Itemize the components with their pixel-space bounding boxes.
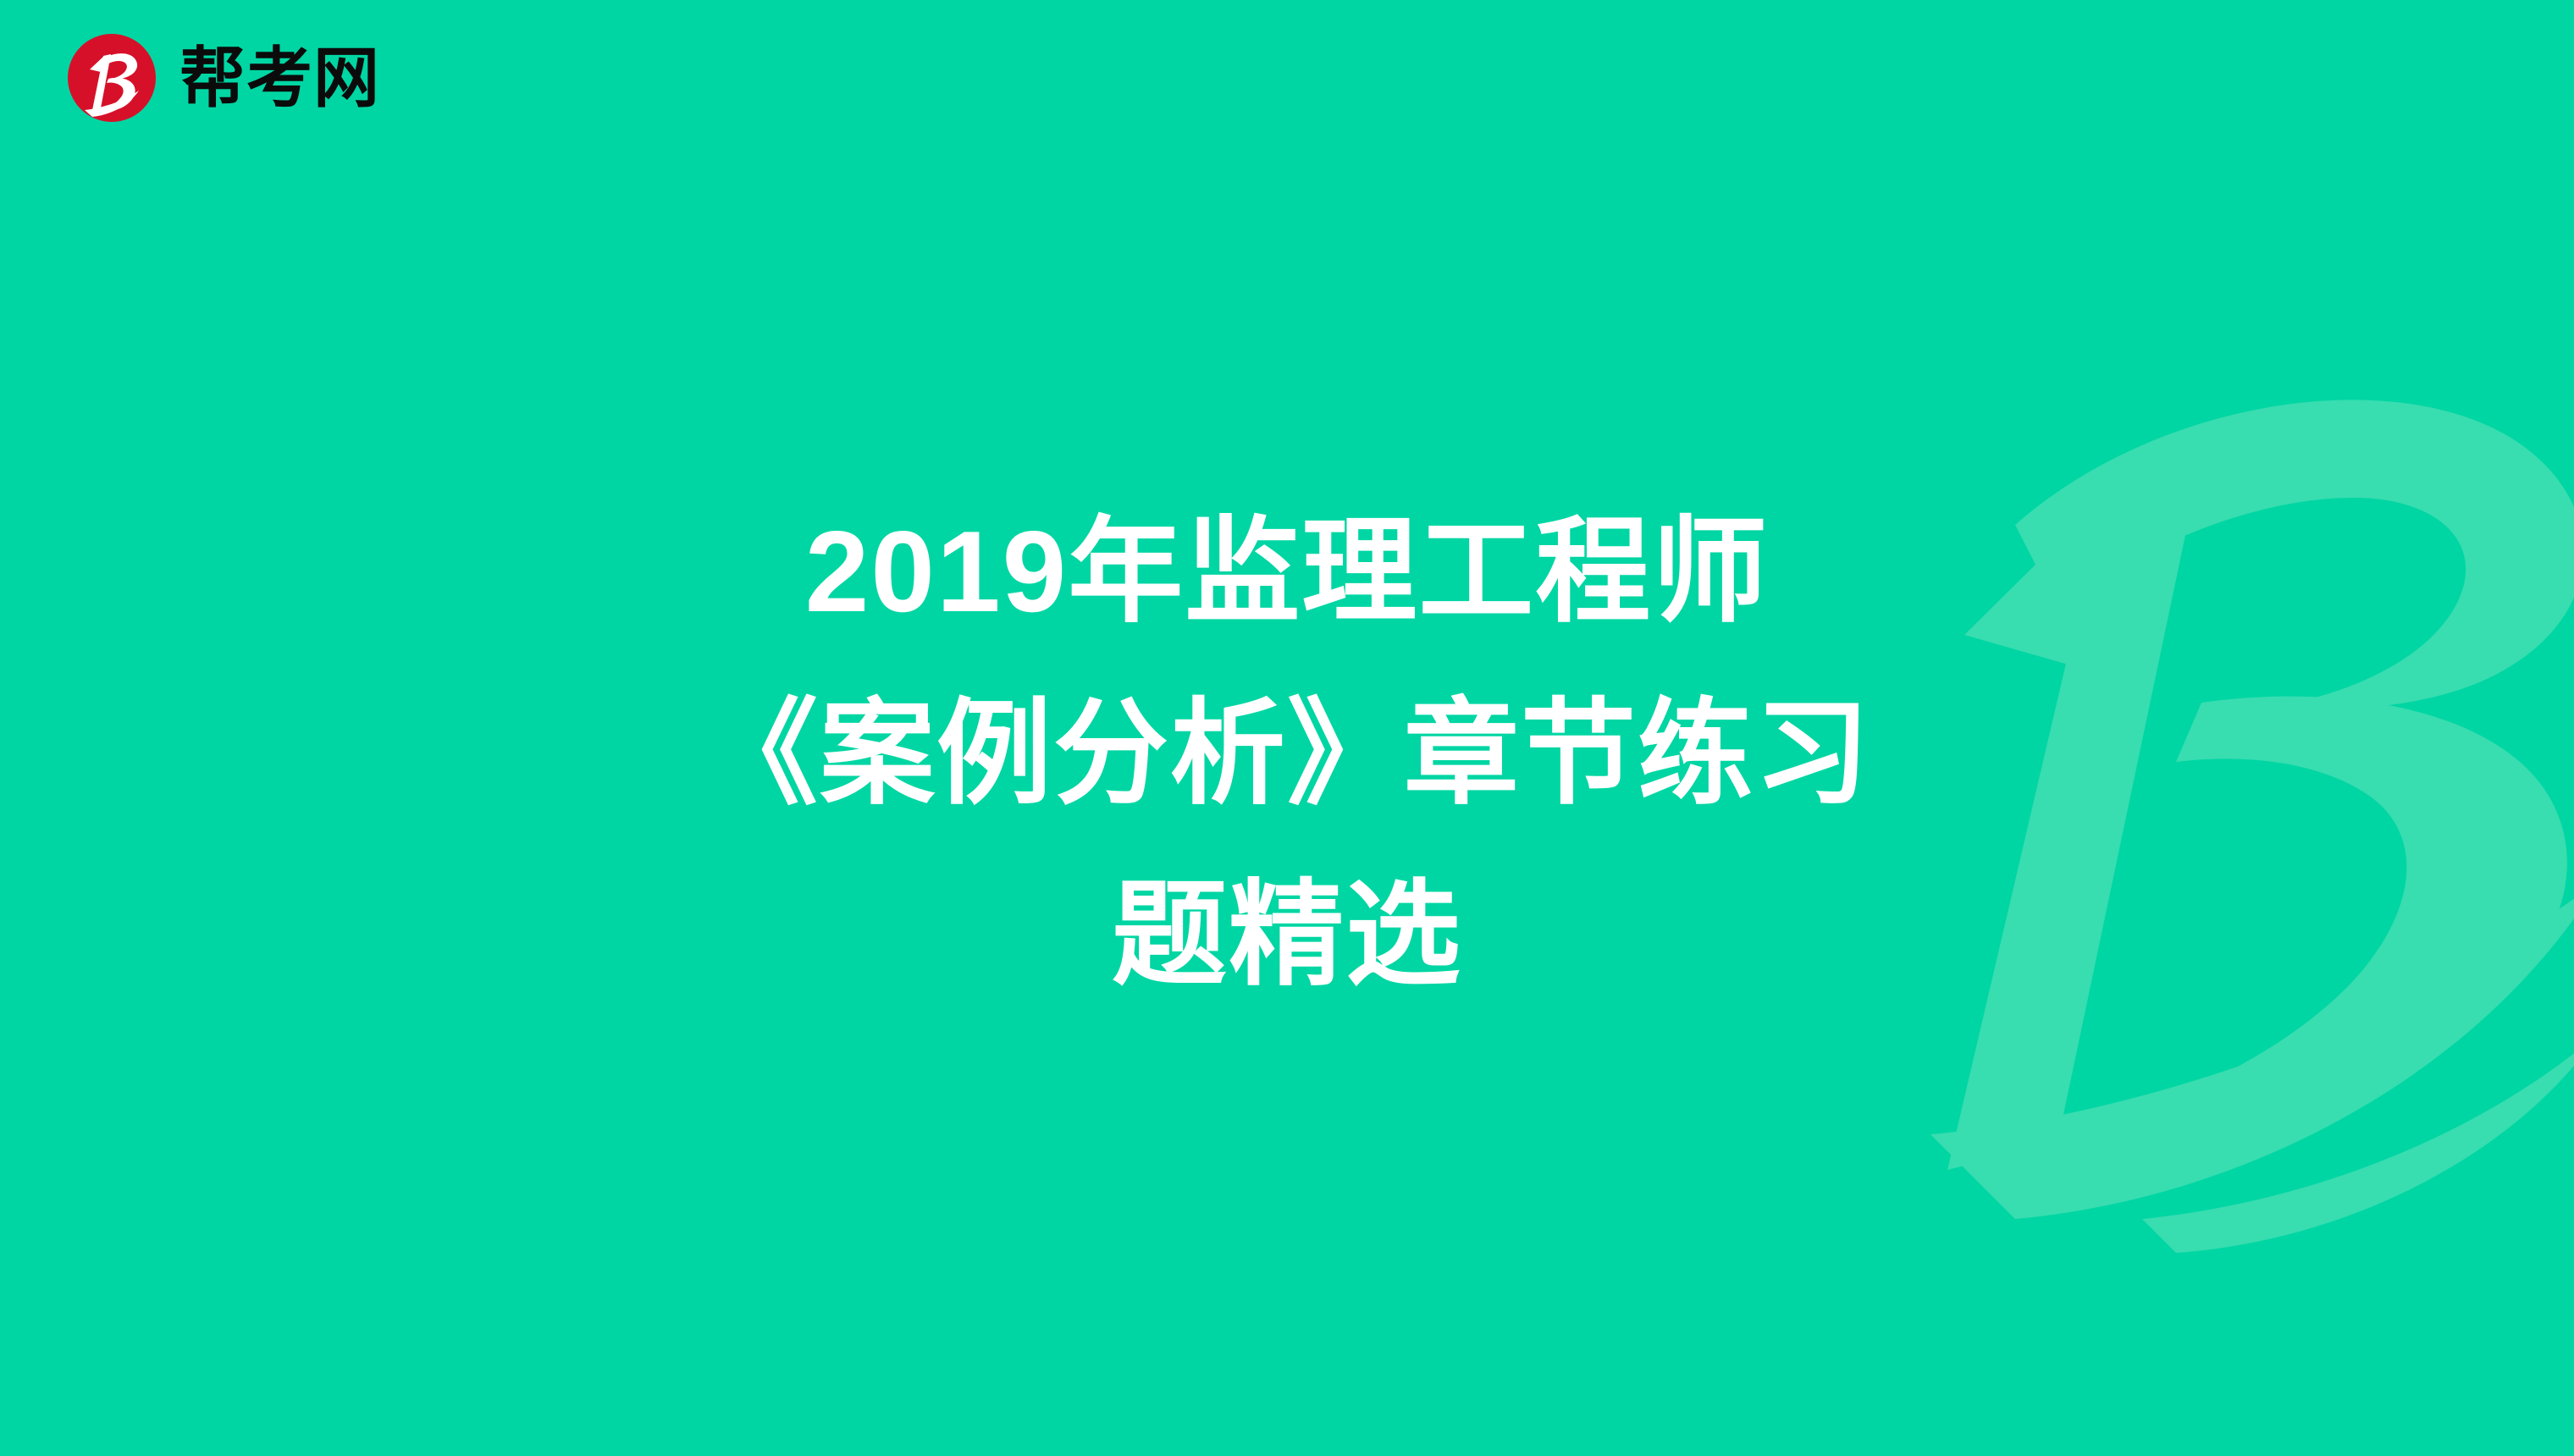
poster-title-line-2: 《案例分析》章节练习 <box>703 663 1871 845</box>
poster-title-line-3: 题精选 <box>1112 844 1462 1026</box>
brand-logo[interactable]: 帮考网 <box>66 32 380 124</box>
poster-canvas: 帮考网 2019年监理工程师 《案例分析》章节练习 题精选 <box>0 0 2574 1456</box>
poster-title-block: 2019年监理工程师 《案例分析》章节练习 题精选 <box>0 0 2574 1456</box>
brand-name: 帮考网 <box>180 45 380 111</box>
poster-title-line-1: 2019年监理工程师 <box>805 481 1770 663</box>
bangkao-b-logo-icon <box>66 32 157 124</box>
